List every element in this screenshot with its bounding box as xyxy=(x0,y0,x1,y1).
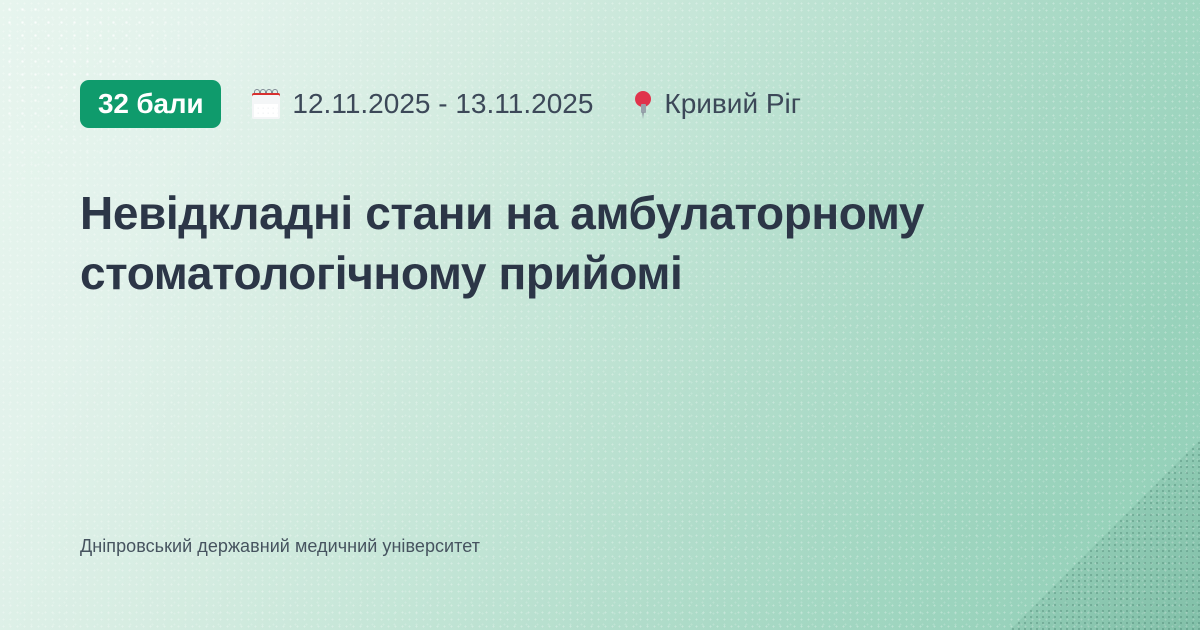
card-content: 32 бали 12.11.2025 - 13.11.2025 Кривий Р… xyxy=(0,0,1200,630)
organizer-name: Дніпровський державний медичний універси… xyxy=(80,535,1120,558)
event-title: Невідкладні стани на амбулаторному стома… xyxy=(80,184,1110,304)
event-dates: 12.11.2025 - 13.11.2025 xyxy=(251,89,593,120)
event-location-label: Кривий Ріг xyxy=(664,90,801,118)
meta-row: 32 бали 12.11.2025 - 13.11.2025 Кривий Р… xyxy=(80,80,1120,128)
map-pin-icon xyxy=(633,89,653,120)
content-spacer xyxy=(80,304,1120,535)
event-location: Кривий Ріг xyxy=(633,89,801,120)
event-banner-card: 32 бали 12.11.2025 - 13.11.2025 Кривий Р… xyxy=(0,0,1200,630)
points-badge: 32 бали xyxy=(80,80,221,128)
calendar-icon xyxy=(251,89,281,120)
event-dates-label: 12.11.2025 - 13.11.2025 xyxy=(292,90,593,118)
